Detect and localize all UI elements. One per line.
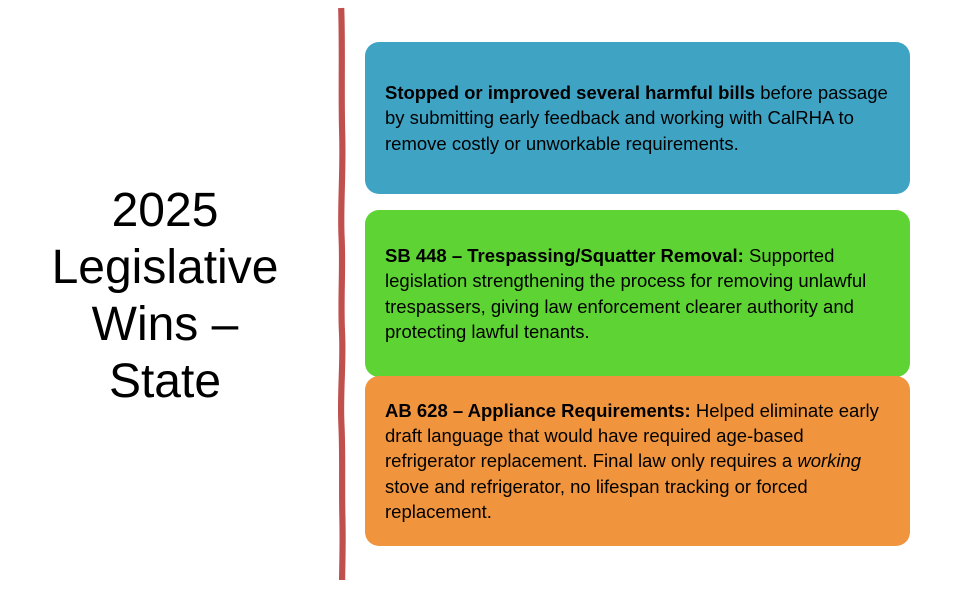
callout-body-emphasis: working <box>797 450 861 471</box>
callout-box-sb-448[interactable]: SB 448 – Trespassing/Squatter Removal: S… <box>365 210 910 377</box>
callout-text-ab-628: AB 628 – Appliance Requirements: Helped … <box>385 398 888 524</box>
vertical-red-brush-line <box>326 0 362 591</box>
callout-body-part2: stove and refrigerator, no lifespan trac… <box>385 476 808 522</box>
page-title: 2025 Legislative Wins – State <box>52 182 279 410</box>
slide-canvas: 2025 Legislative Wins – State Stopped or… <box>0 0 955 591</box>
callout-text-harmful-bills: Stopped or improved several harmful bill… <box>385 80 888 156</box>
callout-lead-in: AB 628 – Appliance Requirements: <box>385 400 691 421</box>
slide-title-block: 2025 Legislative Wins – State <box>0 168 330 423</box>
callout-box-ab-628[interactable]: AB 628 – Appliance Requirements: Helped … <box>365 376 910 546</box>
callout-text-sb-448: SB 448 – Trespassing/Squatter Removal: S… <box>385 243 888 344</box>
callout-lead-in: Stopped or improved several harmful bill… <box>385 82 755 103</box>
callout-lead-in: SB 448 – Trespassing/Squatter Removal: <box>385 245 744 266</box>
callout-box-harmful-bills[interactable]: Stopped or improved several harmful bill… <box>365 42 910 194</box>
brush-line-icon <box>326 0 362 591</box>
